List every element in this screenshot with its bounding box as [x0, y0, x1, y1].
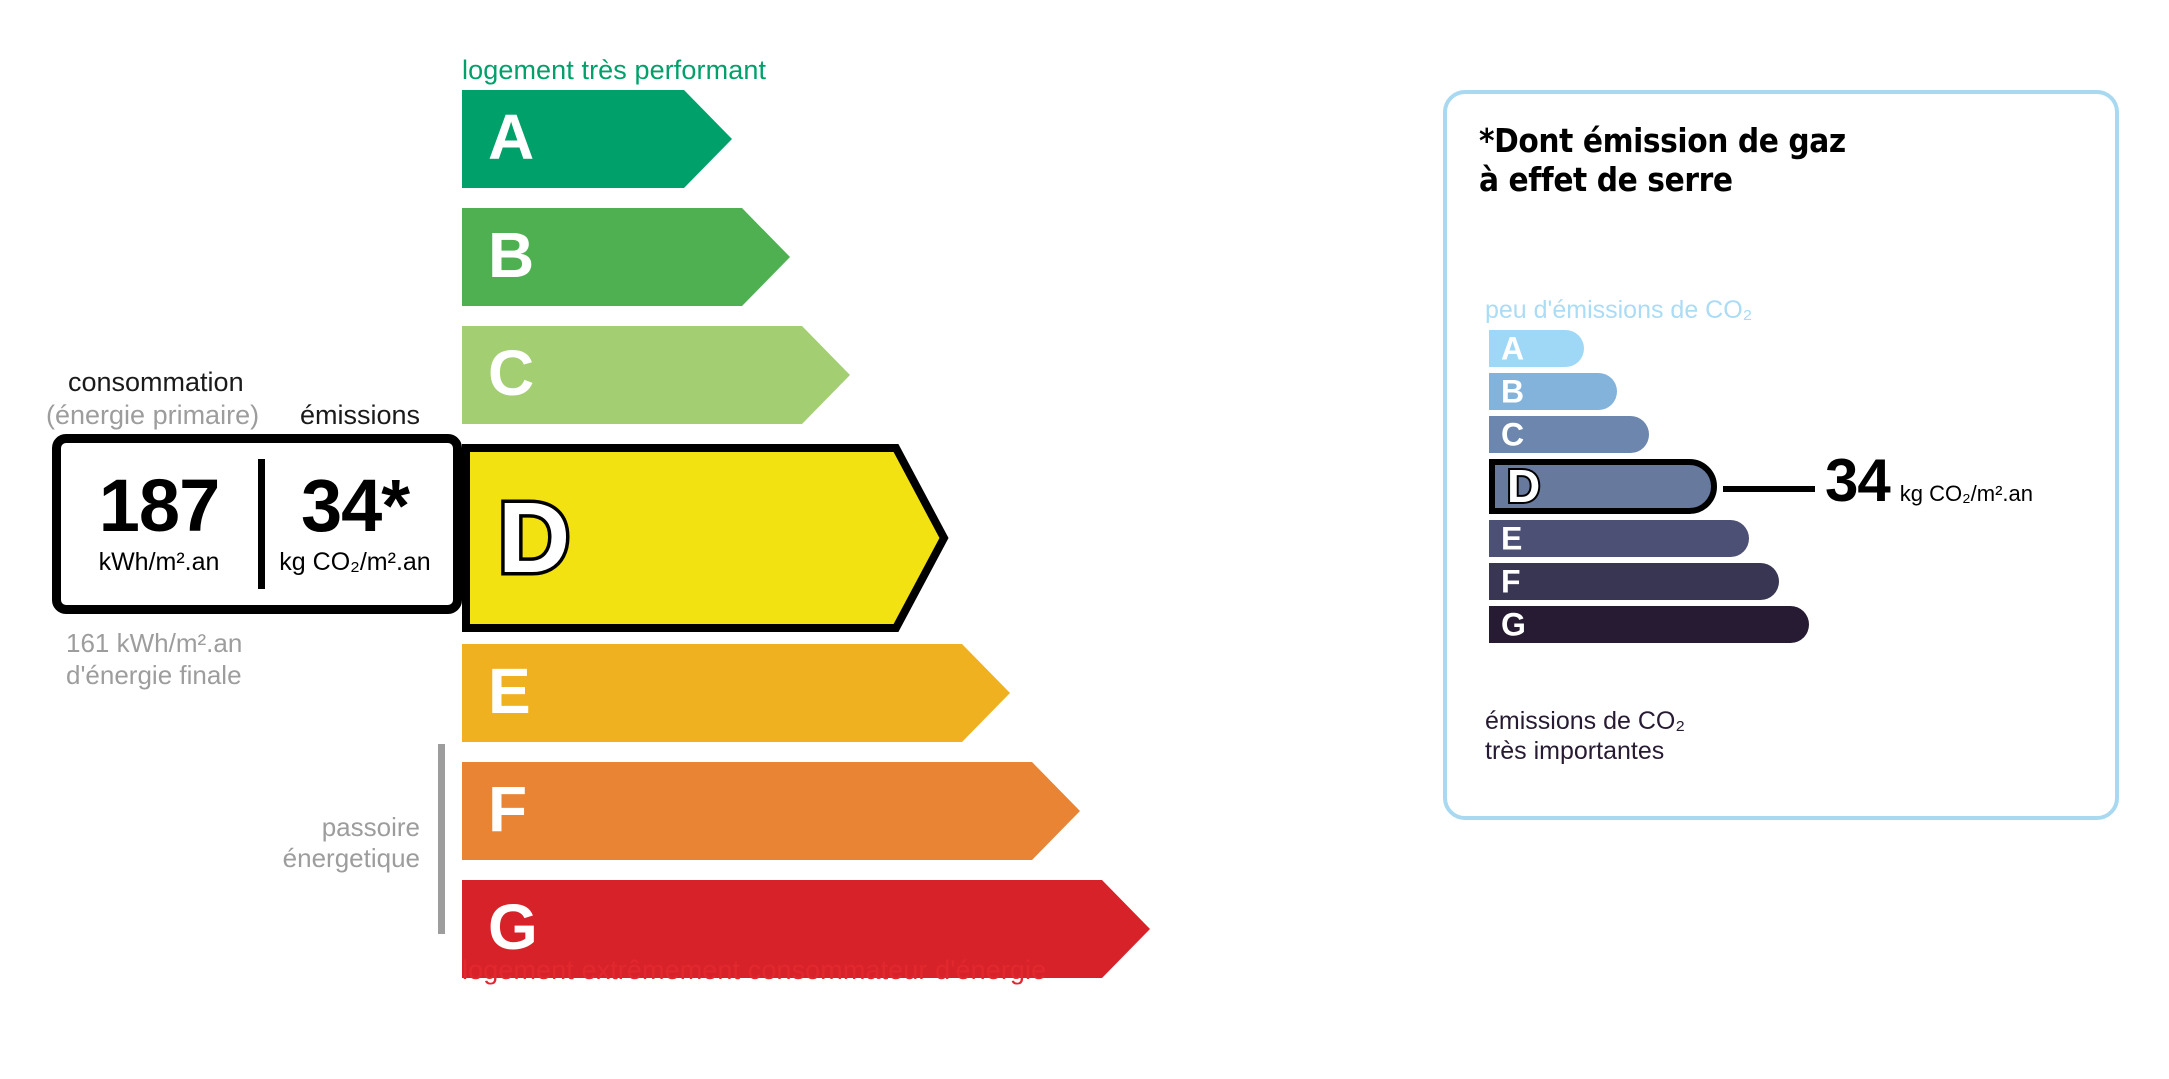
- passoire-line-2: énergetique: [180, 843, 420, 874]
- energy-top-caption: logement très performant: [462, 55, 766, 86]
- emission-value: 34*: [301, 471, 409, 541]
- passoire-label: passoire énergetique: [180, 812, 420, 874]
- co2-bar-letter: E: [1501, 522, 1522, 554]
- co2-panel-title: *Dont émission de gaz à effet de serre: [1479, 122, 1846, 200]
- passoire-line-1: passoire: [180, 812, 420, 843]
- energy-bar-letter: B: [488, 223, 534, 287]
- co2-bottom-line-1: émissions de CO₂: [1485, 706, 1685, 736]
- co2-bar-letter: B: [1501, 375, 1524, 407]
- energy-bar-letter: E: [488, 659, 531, 723]
- co2-callout-value: 34: [1825, 451, 1890, 511]
- co2-bar-letter: D: [1507, 463, 1540, 509]
- final-energy-line-2: d'énergie finale: [66, 660, 242, 692]
- energy-bar-letter: F: [488, 777, 527, 841]
- consumption-value: 187: [99, 471, 219, 541]
- consumption-label: consommation: [68, 367, 244, 398]
- co2-title-line-1: *Dont émission de gaz: [1479, 122, 1846, 161]
- final-energy-line-1: 161 kWh/m².an: [66, 628, 242, 660]
- final-energy-label: 161 kWh/m².an d'énergie finale: [66, 628, 242, 691]
- energy-bar-letter: G: [488, 895, 538, 959]
- energy-bar-letter: C: [488, 341, 534, 405]
- passoire-bracket: [438, 744, 445, 934]
- co2-bar-shape: [1489, 606, 1809, 643]
- co2-bar-letter: C: [1501, 418, 1524, 450]
- co2-callout: 34kg CO₂/m².an: [1825, 451, 2033, 511]
- co2-bottom-line-2: très importantes: [1485, 736, 1685, 766]
- consumption-unit: kWh/m².an: [99, 548, 220, 577]
- consumption-sublabel: (énergie primaire): [46, 400, 259, 431]
- co2-callout-unit: kg CO₂/m².an: [1900, 481, 2033, 507]
- energy-bar-shape: [462, 762, 1080, 860]
- co2-bar-letter: G: [1501, 608, 1526, 640]
- co2-bar-letter: F: [1501, 565, 1521, 597]
- co2-bar-shape: [1489, 520, 1749, 557]
- emission-cell: 34* kg CO₂/m².an: [257, 443, 453, 605]
- consumption-cell: 187 kWh/m².an: [61, 443, 257, 605]
- energy-scale: logement très performant ABCDEFG 187 kWh…: [0, 0, 1400, 1079]
- co2-bottom-caption: émissions de CO₂ très importantes: [1485, 706, 1685, 766]
- energy-bar-letter: A: [488, 105, 534, 169]
- energy-bar-letter: D: [498, 488, 570, 588]
- co2-top-caption: peu d'émissions de CO₂: [1485, 296, 1752, 325]
- emissions-label: émissions: [300, 400, 420, 431]
- co2-callout-leader-line: [1723, 486, 1815, 492]
- co2-panel: *Dont émission de gaz à effet de serre p…: [1443, 90, 2119, 820]
- emission-unit: kg CO₂/m².an: [279, 548, 430, 577]
- co2-bar-shape: [1489, 563, 1779, 600]
- value-box: 187 kWh/m².an 34* kg CO₂/m².an: [52, 434, 462, 614]
- dpe-diagram: logement très performant ABCDEFG 187 kWh…: [0, 0, 2169, 1079]
- co2-bar-letter: A: [1501, 332, 1524, 364]
- co2-title-line-2: à effet de serre: [1479, 161, 1846, 200]
- energy-bar-shape: [462, 644, 1010, 742]
- energy-bottom-caption: logement extrêmement consommateur d'éner…: [462, 955, 1046, 986]
